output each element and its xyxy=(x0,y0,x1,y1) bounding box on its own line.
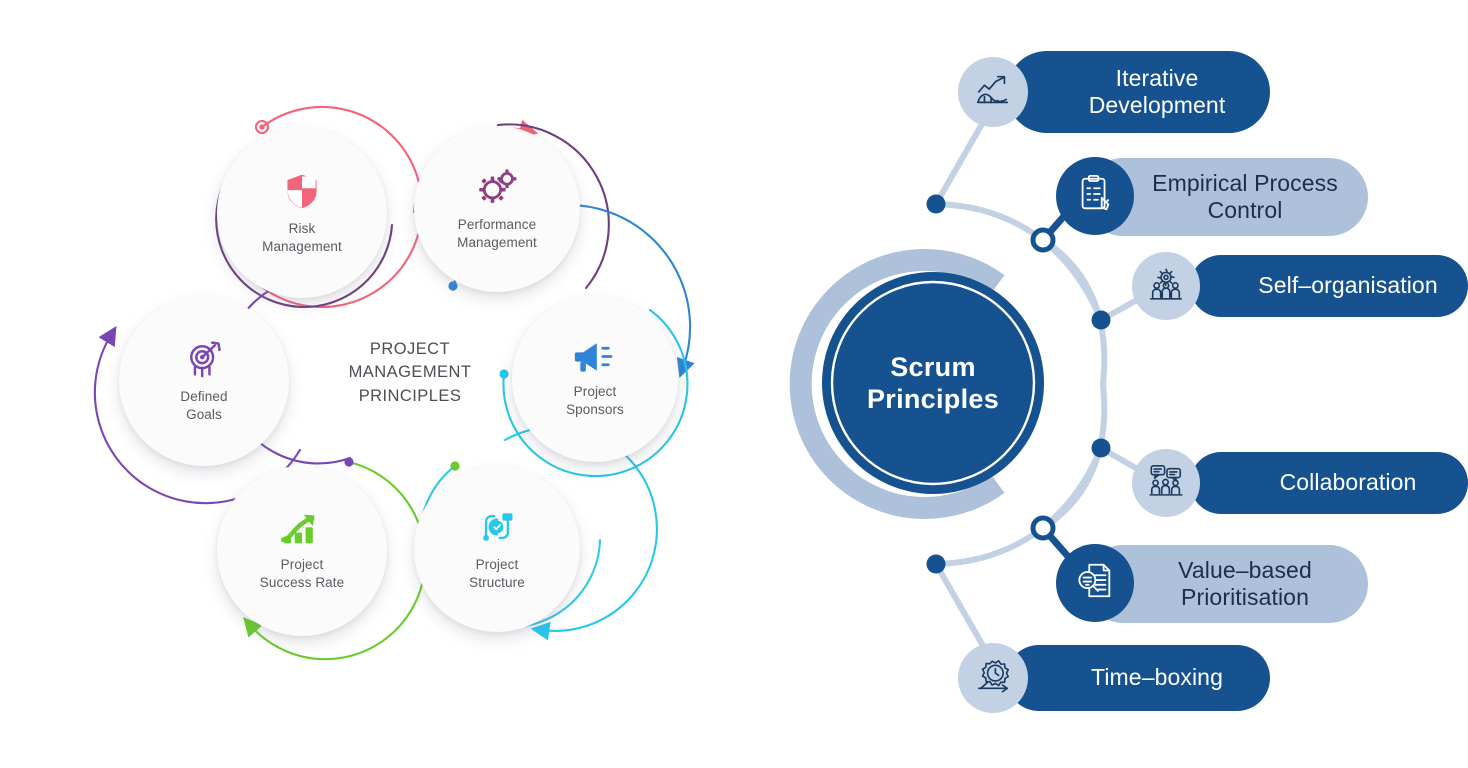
pill-iterative-development[interactable]: Iterative Development xyxy=(1006,51,1270,133)
pill-self-organisation[interactable]: Self–organisation xyxy=(1190,255,1468,317)
junction-dot-lower xyxy=(927,555,946,574)
pill-label: Value–based Prioritisation xyxy=(1178,557,1312,611)
junction-ring-value-based xyxy=(1033,518,1053,538)
node-label: Project Structure xyxy=(469,556,525,591)
stopwatch-icon xyxy=(974,657,1012,700)
people-chat-icon xyxy=(1147,462,1185,505)
team-gear-icon xyxy=(1147,265,1185,308)
node-defined-goals[interactable]: Defined Goals xyxy=(119,296,289,466)
megaphone-icon xyxy=(573,340,617,374)
pill-label: Empirical Process Control xyxy=(1152,170,1338,224)
badge-value-based-prioritisation[interactable] xyxy=(1056,544,1134,622)
badge-self-organisation[interactable] xyxy=(1132,252,1200,320)
node-label: Risk Management xyxy=(262,220,342,255)
clipboard-pen-icon xyxy=(1074,173,1116,220)
connector-arc-upper xyxy=(1043,240,1104,384)
page-title: PROJECT MANAGEMENT PRINCIPLES xyxy=(330,338,490,408)
node-project-structure[interactable]: Project Structure xyxy=(414,466,580,632)
pill-collaboration[interactable]: Collaboration xyxy=(1190,452,1468,514)
node-label: Project Success Rate xyxy=(260,556,345,591)
target-arrow-icon xyxy=(184,339,224,379)
project-management-principles-diagram: Risk Management xyxy=(0,0,760,768)
pill-label: Time–boxing xyxy=(1091,664,1223,691)
scrum-principles-diagram: Scrum Principles Iterative Development xyxy=(760,0,1468,768)
pill-time-boxing[interactable]: Time–boxing xyxy=(1006,645,1270,711)
infographic-canvas: Risk Management xyxy=(0,0,1468,768)
gears-icon xyxy=(476,167,518,207)
badge-iterative-development[interactable] xyxy=(958,57,1028,127)
shield-icon xyxy=(282,171,322,211)
node-project-success-rate[interactable]: Project Success Rate xyxy=(217,466,387,636)
badge-collaboration[interactable] xyxy=(1132,449,1200,517)
node-label: Performance Management xyxy=(457,216,537,251)
hub-circle[interactable] xyxy=(822,272,1044,494)
badge-time-boxing[interactable] xyxy=(958,643,1028,713)
badge-empirical-process-control[interactable] xyxy=(1056,157,1134,235)
junction-dot-self-organisation xyxy=(1092,311,1111,330)
document-search-icon xyxy=(1074,560,1116,607)
junction-ring-empirical xyxy=(1033,230,1053,250)
trend-up-icon xyxy=(974,71,1012,114)
pill-label: Collaboration xyxy=(1280,469,1417,496)
node-label: Defined Goals xyxy=(180,388,227,423)
node-risk-management[interactable]: Risk Management xyxy=(217,128,387,298)
junction-dot-collaboration xyxy=(1092,439,1111,458)
node-project-sponsors[interactable]: Project Sponsors xyxy=(512,296,678,462)
pill-label: Iterative Development xyxy=(1089,65,1226,119)
growth-chart-icon xyxy=(280,511,324,547)
node-label: Project Sponsors xyxy=(566,383,624,418)
junction-dot-upper xyxy=(927,195,946,214)
node-performance-management[interactable]: Performance Management xyxy=(414,126,580,292)
pill-label: Self–organisation xyxy=(1258,272,1437,299)
network-node-icon xyxy=(477,507,517,547)
